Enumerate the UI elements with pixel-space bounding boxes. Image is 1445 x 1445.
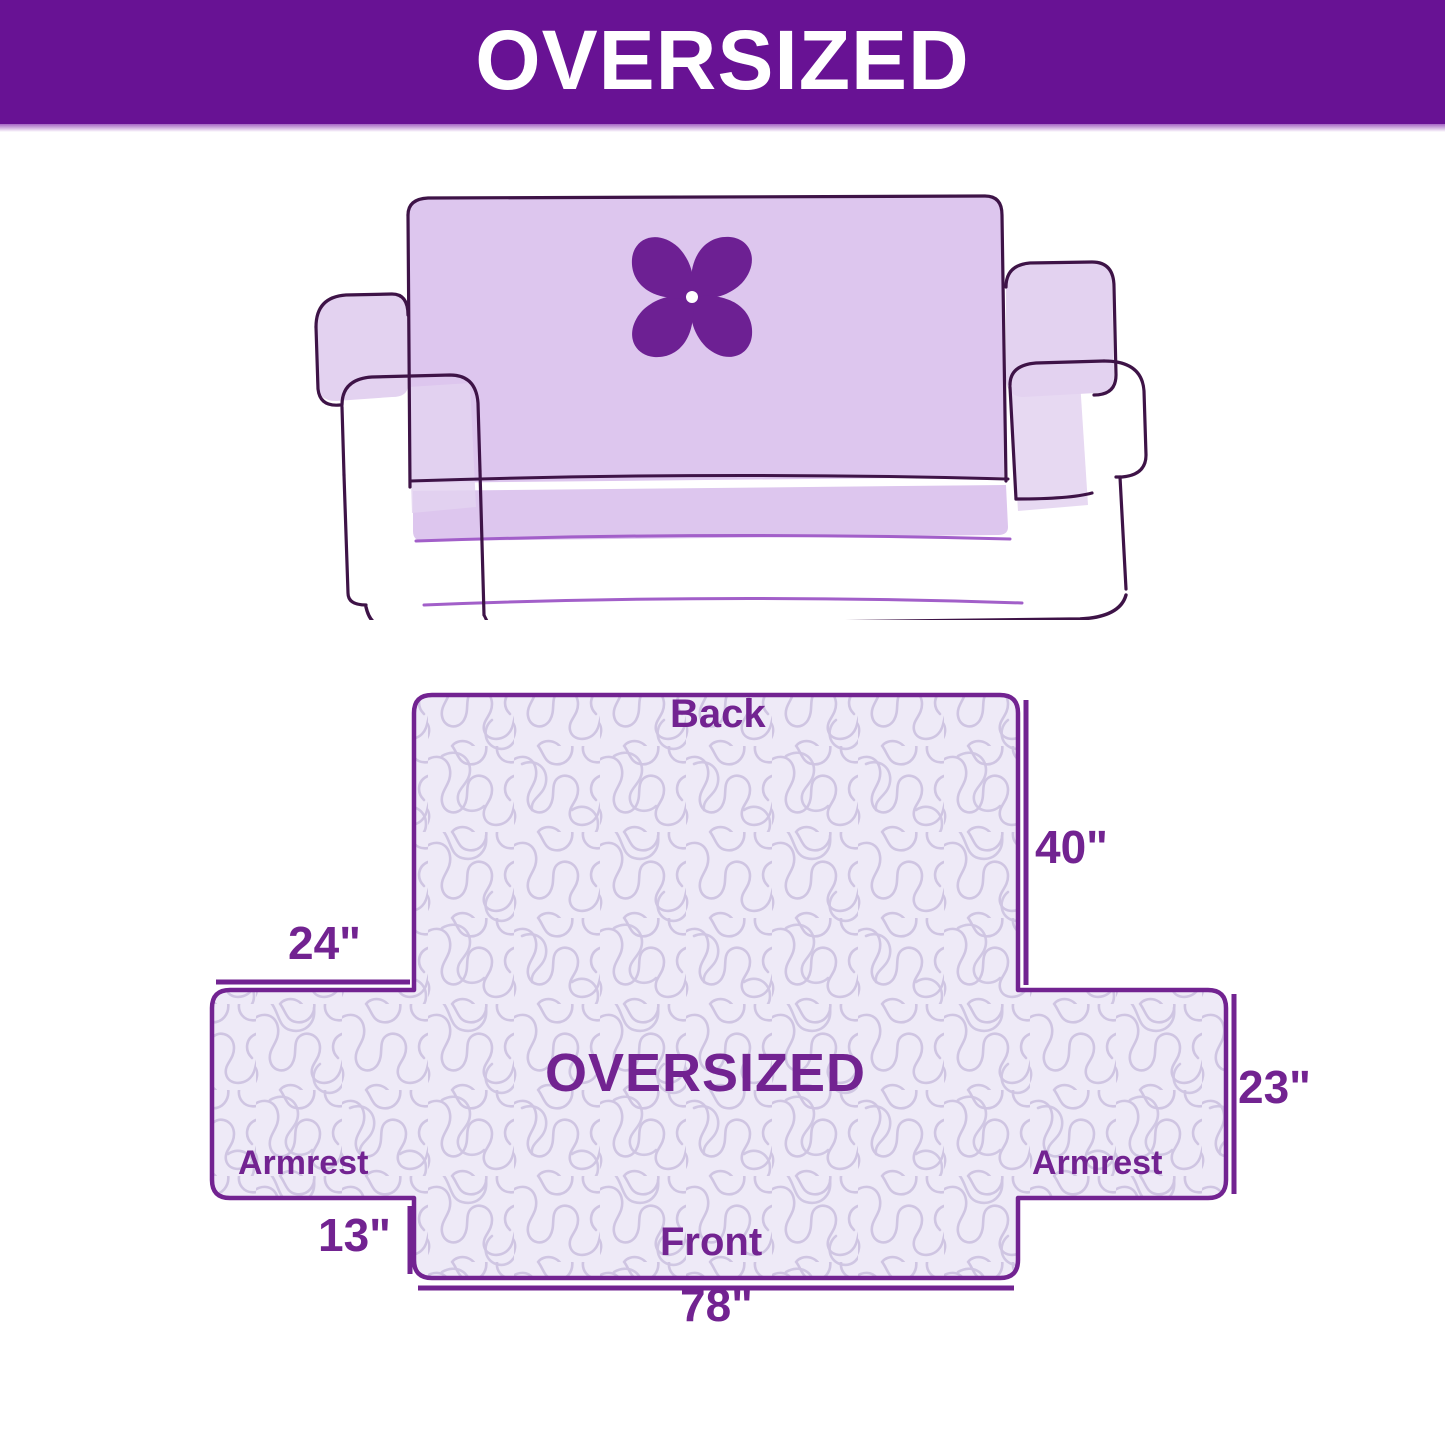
measurement-label-armrest-height: 23" (1238, 1060, 1311, 1114)
sofa-left-outer-arm-fill (316, 295, 408, 401)
panel-label-armrest-right: Armrest (1032, 1144, 1162, 1183)
panel-label-armrest-left: Armrest (238, 1144, 368, 1183)
page-title: OVERSIZED (0, 0, 1445, 124)
sofa-illustration (280, 175, 1190, 620)
measurement-label-back-height: 40" (1035, 820, 1108, 874)
measurement-label-front-width: 78" (680, 1278, 753, 1332)
sofa-left-inner-roll-edge (342, 407, 344, 475)
panel-label-back: Back (670, 692, 766, 737)
sofa-base-corner (484, 615, 490, 620)
panel-label-front: Front (660, 1220, 762, 1265)
sofa-left-inner-arm-fill (408, 383, 476, 513)
header-banner-fade (0, 124, 1445, 132)
measurement-label-front-height: 13" (318, 1208, 391, 1262)
logo-center-dot (686, 291, 698, 303)
dimension-diagram: Back OVERSIZED Front Armrest Armrest 40"… (170, 660, 1350, 1360)
slipcover-cross-shape (212, 695, 1226, 1278)
sofa-right-arm-front-edge (1120, 477, 1126, 589)
sofa-line-drawing (280, 175, 1190, 620)
measurement-label-armrest-width: 24" (288, 916, 361, 970)
sofa-skirt-seam (424, 598, 1022, 605)
sofa-right-arm-top-fill (1010, 381, 1088, 511)
sofa-right-outer-arm-fill (1006, 263, 1114, 397)
sofa-back-left-edge (408, 215, 410, 487)
panel-label-oversized: OVERSIZED (545, 1042, 866, 1104)
sofa-seat-fill (413, 485, 1008, 541)
infographic-page: OVERSIZED (0, 0, 1445, 1445)
sofa-left-arm-front-panel (344, 475, 366, 605)
